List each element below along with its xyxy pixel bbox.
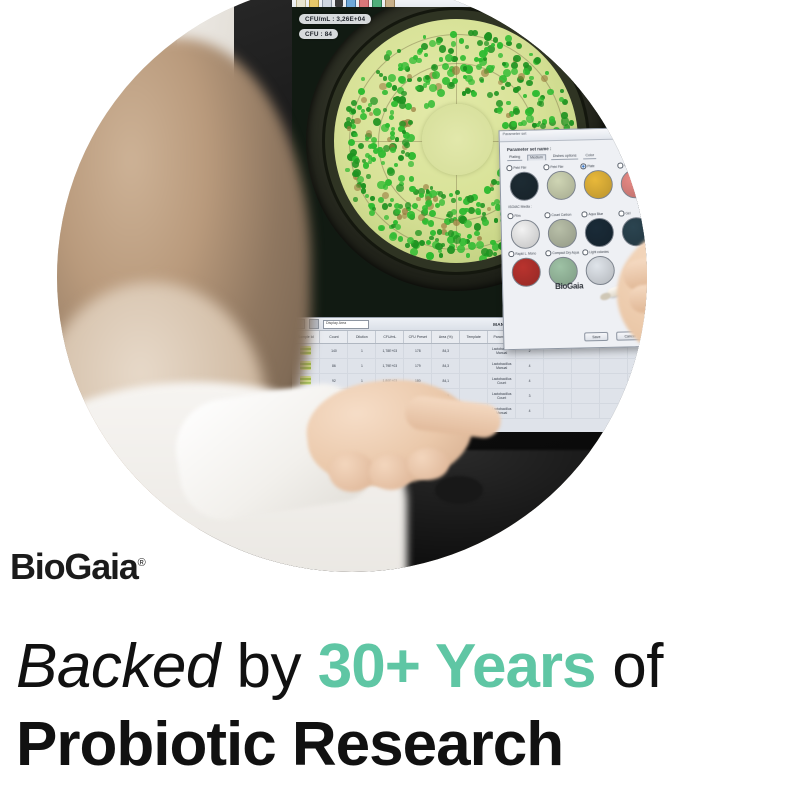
plating-pattern-widget[interactable] (638, 69, 647, 117)
table-cell (544, 374, 572, 389)
media-option[interactable]: Film (507, 212, 542, 249)
table-cell (599, 404, 627, 419)
media-option-label: Film (514, 214, 520, 218)
media-options-grid[interactable]: Petri FilmPetri FilmPlateCount PlateFilm (506, 161, 647, 201)
headline-of: of (596, 632, 663, 701)
media-option[interactable]: Petri Film (543, 164, 578, 201)
table-cell: 1 (348, 344, 376, 359)
media-option[interactable]: Aqua Blue (581, 211, 616, 248)
photo-label: Photo (612, 29, 647, 34)
dialog-titlebar: Parameter set (500, 127, 647, 143)
table-cell: 26 (627, 359, 647, 374)
petri-thumbnail (510, 219, 540, 249)
table-cell (572, 404, 600, 419)
petri-thumbnail (583, 170, 613, 200)
table-cell: 140 (320, 344, 348, 359)
camera-icon[interactable] (335, 0, 343, 7)
media-option-label: Compact Dry Aqua (552, 250, 579, 255)
plating-label: Plating (612, 50, 647, 55)
brand-name: BioGaia (10, 546, 138, 587)
petri-thumbnail (546, 171, 576, 201)
media-option-label: Aqua Blue (588, 212, 603, 216)
column-header[interactable]: Template (460, 331, 488, 344)
tab-medium[interactable]: Medium (527, 154, 546, 160)
media-option[interactable]: Count Plate (617, 162, 647, 199)
petri-thumbnail (620, 169, 647, 199)
table-cell (572, 374, 600, 389)
media-option-label: Plate (587, 164, 594, 168)
media-option-label: Petri Film (550, 165, 564, 169)
table-cell: 178 (404, 344, 432, 359)
column-header[interactable]: Area (%) (432, 331, 460, 344)
media-option-label: Rapid L. Mono (515, 251, 536, 255)
column-header[interactable]: Count (320, 331, 348, 344)
cfu-per-ml-badge: CFU/mL : 3,26E+04 (299, 14, 371, 24)
column-header[interactable]: CFU/mL (376, 331, 404, 344)
table-cell: 28 (627, 374, 647, 389)
media-option[interactable]: Rapid L. Mono (508, 250, 543, 287)
table-cell (544, 404, 572, 419)
headline-line-2: Probiotic Research (16, 714, 796, 776)
radio-icon[interactable] (581, 211, 587, 217)
table-row[interactable]: 8611,79E+0317984,3Lactobacillus Manual42… (292, 359, 647, 374)
radio-icon[interactable] (582, 249, 588, 255)
radio-icon[interactable] (580, 163, 586, 169)
table-cell (460, 374, 488, 389)
radio-icon[interactable] (543, 164, 549, 170)
tab-color[interactable]: Color (583, 153, 596, 159)
table-cell: 1 (348, 359, 376, 374)
iso-media-label: ISO/AC Media : (508, 201, 647, 209)
headline-line-1: Backed by 30+ Years of (16, 636, 796, 698)
radio-icon[interactable] (618, 210, 624, 216)
table-cell: 4 (516, 404, 544, 419)
dialog-save-button[interactable]: Save (584, 332, 608, 342)
center-clear-zone (422, 104, 493, 175)
tab-dishes-options[interactable]: Dishes options (551, 154, 579, 161)
table-cell: 84,3 (432, 344, 460, 359)
table-cell (599, 359, 627, 374)
table-cell (572, 389, 600, 404)
media-option-label: Gel (625, 211, 630, 215)
media-option-label: Count Carbon (551, 212, 571, 216)
dialog-watermark: BioGaia (555, 281, 583, 291)
table-cell: 3 (516, 389, 544, 404)
radio-icon[interactable] (617, 163, 623, 169)
dialog-tabs[interactable]: Plating Medium Dishes options Color (507, 151, 647, 161)
table-cell: Lactobacillus Count (488, 374, 516, 389)
table-cell (460, 359, 488, 374)
table-cell: Lactobacillus Count (488, 389, 516, 404)
table-row[interactable]: 9211,80E+0318084,1Lactobacillus Count428… (292, 374, 647, 389)
table-cell (599, 389, 627, 404)
table-cell (599, 374, 627, 389)
grid-icon[interactable] (309, 319, 319, 329)
table-cell: 28 (627, 404, 647, 419)
media-option-label: Count Plate (624, 163, 641, 167)
table-cell (544, 389, 572, 404)
table-cell: 4 (516, 374, 544, 389)
media-option-label: Light colonies (589, 250, 609, 254)
column-header[interactable]: Dilution (348, 331, 376, 344)
radio-icon[interactable] (545, 250, 551, 256)
table-cell: 1,78E+03 (376, 344, 404, 359)
radio-icon[interactable] (544, 212, 550, 218)
radio-icon[interactable] (507, 213, 513, 219)
table-cell (460, 344, 488, 359)
table-cell: 84,3 (432, 359, 460, 374)
dialog-heading: Parameter set name : (507, 143, 647, 152)
table-cell: 28 (627, 389, 647, 404)
media-option[interactable]: Plate (580, 163, 615, 200)
media-option[interactable]: Light colonies (582, 249, 617, 286)
table-cell: Lactobacillus Manual (488, 359, 516, 374)
table-cell: 179 (404, 359, 432, 374)
petri-thumbnail (547, 219, 577, 249)
radio-icon[interactable] (506, 165, 512, 171)
table-cell: 86 (320, 359, 348, 374)
petri-thumbnail (509, 171, 539, 201)
table-cell (572, 359, 600, 374)
base-knob-right (435, 476, 483, 504)
brand-logo: BioGaia® (10, 546, 145, 588)
radio-icon[interactable] (508, 251, 514, 257)
lab-photo: Colony Counter - Parameters - Sample 1 /… (57, 0, 647, 572)
headline-highlight: 30+ Years (318, 632, 596, 701)
knuckle-3 (407, 448, 449, 480)
knuckle-2 (369, 454, 413, 490)
promo-banner: Colony Counter - Parameters - Sample 1 /… (0, 0, 800, 800)
tab-plating[interactable]: Plating (507, 155, 522, 161)
media-option-label: Petri Film (513, 165, 527, 169)
headline-backed: Backed (16, 632, 220, 701)
petri-thumbnail (584, 218, 614, 248)
headline-by: by (220, 632, 318, 701)
petri-thumbnail (511, 257, 541, 287)
display-area-select[interactable]: Display Area (323, 320, 369, 329)
table-cell: 1,79E+03 (376, 359, 404, 374)
cfu-badge: CFU : 84 (299, 29, 338, 39)
petri-thumbnail (585, 256, 615, 286)
trademark-symbol: ® (138, 557, 145, 569)
media-option[interactable]: Count Carbon (544, 212, 579, 249)
column-header[interactable]: CFU Preset (404, 331, 432, 344)
table-cell (544, 359, 572, 374)
media-option[interactable]: Petri Film (506, 164, 541, 201)
table-cell: 4 (516, 359, 544, 374)
